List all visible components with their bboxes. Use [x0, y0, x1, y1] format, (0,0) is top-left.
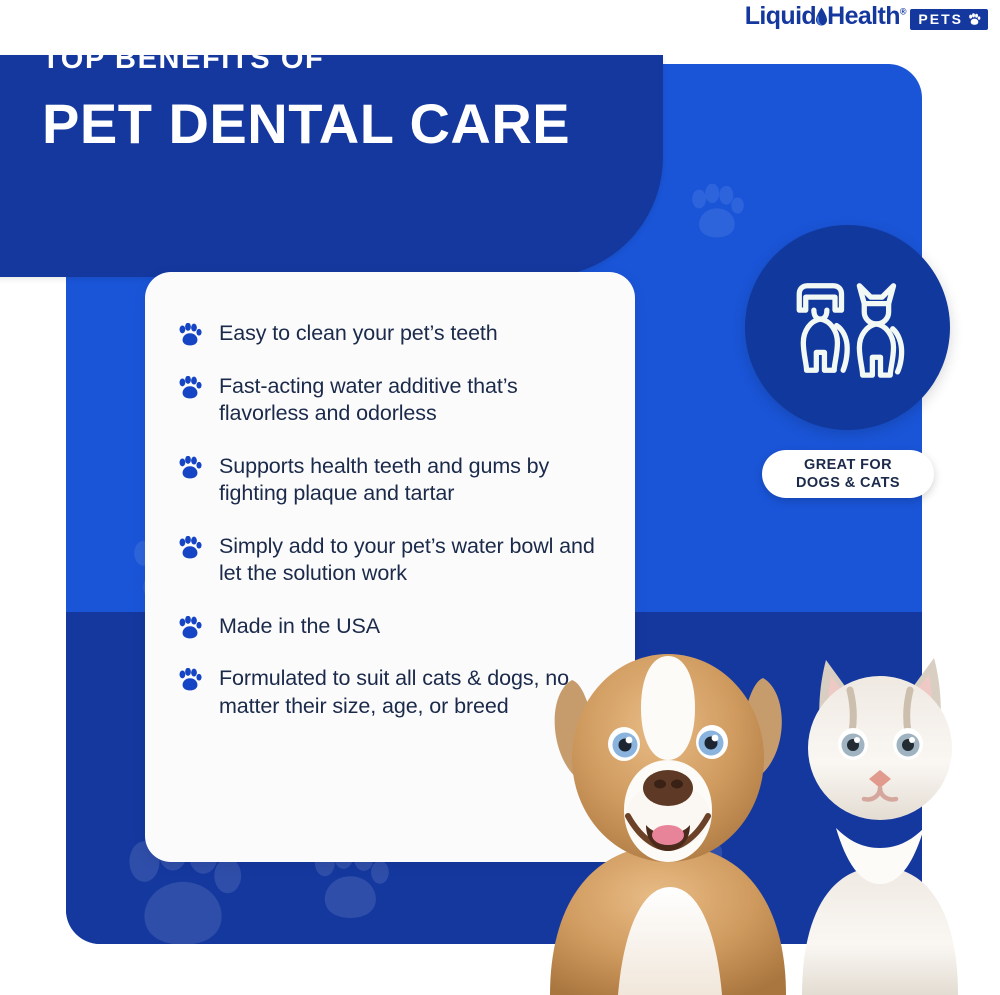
header-kicker: TOP BENEFITS OF: [42, 45, 570, 74]
list-item: Fast-acting water additive that’s flavor…: [177, 373, 613, 428]
cat-illustration: [802, 658, 958, 995]
list-item-label: Simply add to your pet’s water bowl and …: [219, 533, 613, 588]
brand-logo[interactable]: LiquidHealth® PETS: [745, 4, 988, 30]
paw-icon: [177, 323, 203, 347]
list-item-label: Easy to clean your pet’s teeth: [219, 320, 498, 348]
registered-mark: ®: [900, 7, 906, 17]
infographic-canvas: TOP BENEFITS OF PET DENTAL CARE Easy to …: [0, 0, 1000, 995]
list-item: Easy to clean your pet’s teeth: [177, 320, 613, 348]
list-item-label: Supports health teeth and gums by fighti…: [219, 453, 613, 508]
badge-line-2: DOGS & CATS: [796, 474, 900, 492]
logo-wordmark: LiquidHealth®: [745, 4, 906, 29]
badge-line-1: GREAT FOR: [804, 456, 892, 474]
dog-illustration: [550, 654, 786, 995]
list-item-label: Made in the USA: [219, 613, 380, 641]
water-drop-icon: [815, 7, 828, 27]
list-item-label: Fast-acting water additive that’s flavor…: [219, 373, 613, 428]
logo-pets-label: PETS: [918, 11, 963, 27]
paw-watermark: [686, 184, 746, 242]
dog-and-cat-photo-illustration: [520, 620, 1000, 995]
logo-pets-badge: PETS: [910, 9, 988, 30]
pets-photo: [520, 620, 1000, 995]
paw-icon: [177, 456, 203, 480]
paw-icon: [177, 376, 203, 400]
paw-icon: [177, 616, 203, 640]
paw-icon: [177, 536, 203, 560]
list-item: Supports health teeth and gums by fighti…: [177, 453, 613, 508]
logo-text-liquid: Liquid: [745, 2, 816, 30]
header-text-block: TOP BENEFITS OF PET DENTAL CARE: [42, 45, 570, 152]
paw-icon: [177, 668, 203, 692]
status-badge: GREAT FOR DOGS & CATS: [762, 450, 934, 498]
dog-and-cat-badge: [745, 225, 950, 430]
page-title: PET DENTAL CARE: [42, 96, 570, 152]
logo-text-health: Health: [827, 2, 900, 30]
paw-icon: [968, 13, 981, 26]
dog-and-cat-icon: [783, 276, 913, 380]
list-item: Simply add to your pet’s water bowl and …: [177, 533, 613, 588]
